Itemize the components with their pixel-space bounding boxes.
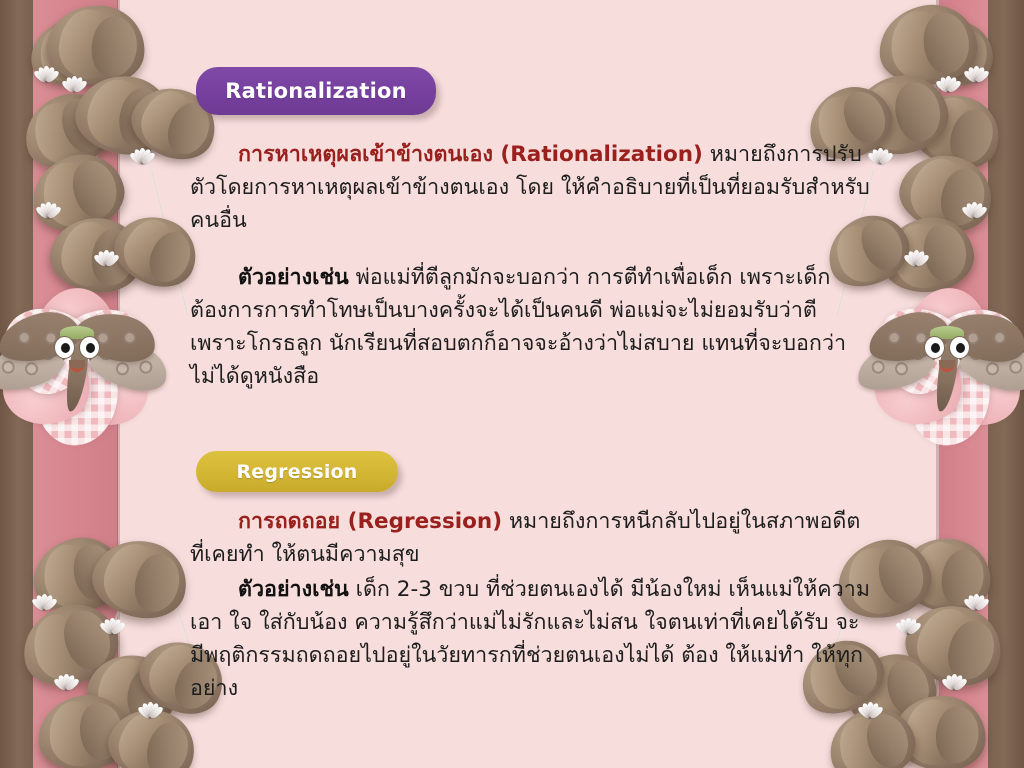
term-rationalization: การหาเหตุผลเข้าข้างตนเอง (Rationalizatio… xyxy=(238,142,703,167)
slide-canvas: Rationalization การหาเหตุผลเข้าข้างตนเอง… xyxy=(0,0,1024,768)
text-block-rationalization: การหาเหตุผลเข้าข้างตนเอง (Rationalizatio… xyxy=(190,138,870,393)
badge-regression-label: Regression xyxy=(236,461,357,483)
badge-regression[interactable]: Regression xyxy=(196,451,398,492)
text-block-regression: การถดถอย (Regression) หมายถึงการหนีกลับไ… xyxy=(190,505,870,705)
example-lead: ตัวอย่างเช่น xyxy=(238,577,349,602)
left-brown-border xyxy=(0,0,33,768)
term-regression: การถดถอย (Regression) xyxy=(238,509,502,534)
badge-rationalization-label: Rationalization xyxy=(225,79,407,103)
right-brown-border xyxy=(988,0,1024,768)
paragraph-definition: การหาเหตุผลเข้าข้างตนเอง (Rationalizatio… xyxy=(190,138,870,237)
paragraph-example: ตัวอย่างเช่น เด็ก 2-3 ขวบ ที่ช่วยตนเองได… xyxy=(190,573,870,705)
paragraph-example: ตัวอย่างเช่น พ่อแม่ที่ตีลูกมักจะบอกว่า ก… xyxy=(190,261,870,393)
right-pink-band xyxy=(939,0,988,768)
badge-rationalization[interactable]: Rationalization xyxy=(196,67,436,115)
left-pink-band xyxy=(33,0,118,768)
example-lead: ตัวอย่างเช่น xyxy=(238,265,349,290)
paragraph-definition: การถดถอย (Regression) หมายถึงการหนีกลับไ… xyxy=(190,505,870,571)
